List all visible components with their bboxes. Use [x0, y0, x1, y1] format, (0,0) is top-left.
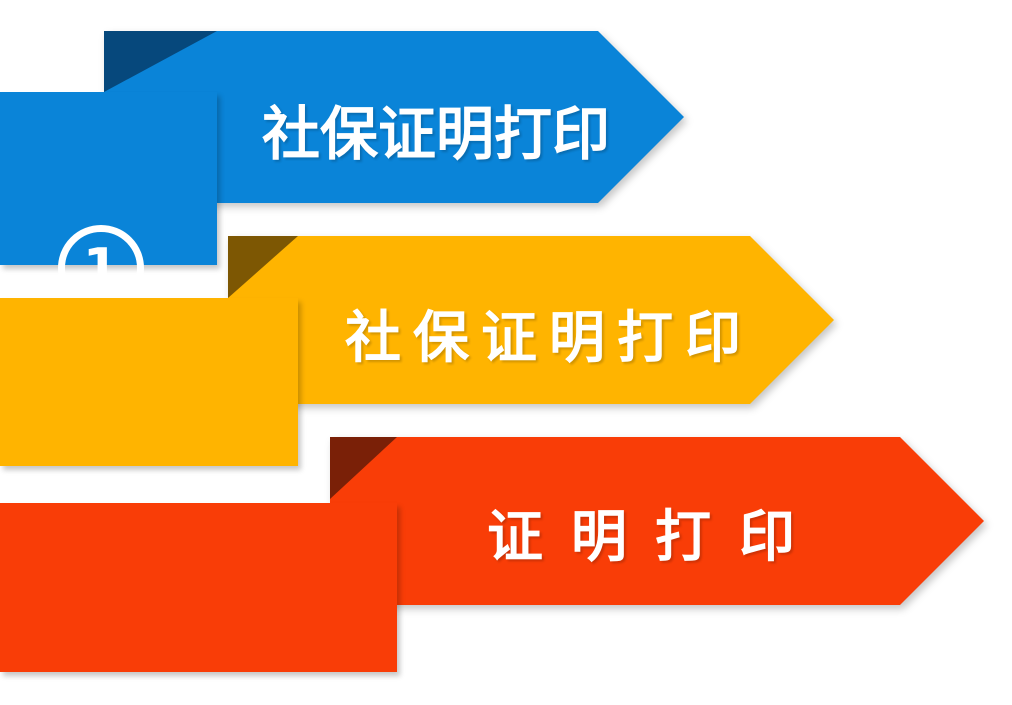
step-3-fold-triangle — [330, 437, 397, 499]
step-3-banner-label: 证明打印 — [487, 492, 823, 573]
step-1-banner-label: 社保证明打印 — [262, 87, 610, 171]
infographic-canvas: 社保证明打印 1 社保证明打印 2 证明打印 3 — [0, 0, 1012, 705]
step-1-number-card[interactable]: 1 — [0, 92, 217, 265]
step-3-number-card[interactable]: 3 — [0, 503, 397, 672]
step-1-fold-triangle — [104, 31, 217, 92]
step-2-number-card[interactable]: 2 — [0, 298, 298, 466]
step-2-fold-triangle — [228, 236, 298, 298]
step-2-banner-label: 社保证明打印 — [345, 293, 753, 374]
